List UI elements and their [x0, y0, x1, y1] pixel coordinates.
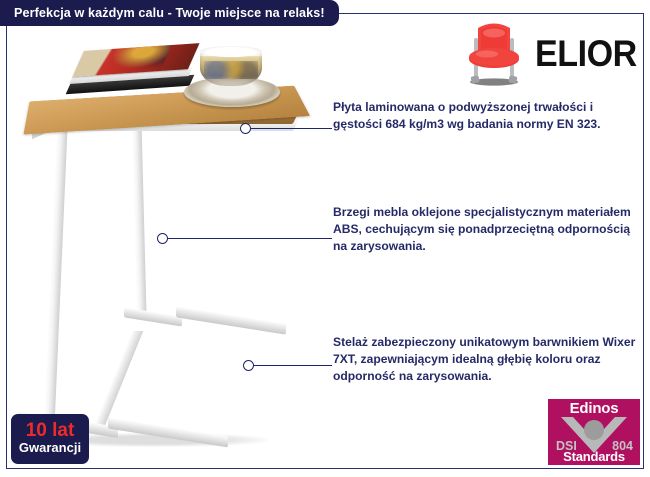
callout-leader-tabletop	[250, 128, 332, 129]
edinos-standards-label: Standards	[548, 449, 640, 464]
callout-text-frame: Stelaż zabezpieczony unikatowym barwniki…	[333, 334, 638, 386]
table-foot-back	[124, 307, 182, 326]
table-leg-back	[131, 121, 146, 317]
porcelain-cup	[200, 50, 262, 86]
red-chair-icon	[461, 18, 527, 88]
cup-decoration	[204, 61, 258, 79]
product-feature-infographic: Perfekcja w każdym calu - Twoje miejsce …	[0, 0, 650, 477]
brand-name: ELIOR	[535, 35, 637, 72]
edinos-title: Edinos	[548, 400, 640, 417]
edinos-standards-badge: Edinos DSI 804 Standards	[548, 399, 640, 465]
headline-banner: Perfekcja w każdym calu - Twoje miejsce …	[0, 0, 339, 26]
callout-leader-edges	[167, 238, 332, 239]
headline-text: Perfekcja w każdym calu - Twoje miejsce …	[14, 6, 325, 20]
warranty-badge: 10 lat Gwarancji	[11, 414, 89, 464]
callout-text-edges: Brzegi mebla oklejone specjalistycznym m…	[333, 204, 638, 256]
brand-logo: ELIOR	[461, 17, 636, 89]
table-leg-front	[43, 127, 67, 427]
warranty-label: Gwarancji	[19, 440, 81, 456]
callout-text-tabletop: Płyta laminowana o podwyższonej trwałośc…	[333, 99, 638, 133]
callout-marker-edges	[157, 233, 168, 244]
callout-leader-frame	[253, 365, 332, 366]
callout-marker-frame	[243, 360, 254, 371]
table-foot-back-right	[176, 306, 286, 334]
callout-marker-tabletop	[240, 123, 251, 134]
table-brace	[92, 331, 143, 431]
warranty-years: 10 lat	[26, 421, 75, 440]
